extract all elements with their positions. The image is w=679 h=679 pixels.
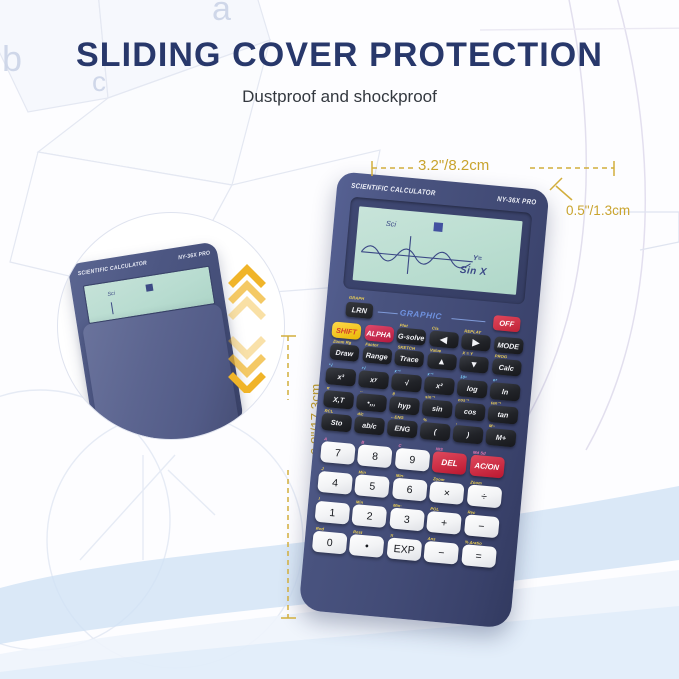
lcd-bezel: Sci Y= Sin X [343, 197, 533, 305]
calculator-body: SCIENTIFIC CALCULATOR NY-36X PRO Sci [298, 171, 549, 628]
brand-right: NY-36X PRO [497, 195, 537, 207]
lcd-indicator-icon [433, 222, 443, 232]
key-key[interactable]: − [463, 514, 499, 538]
lcd-y-label: Y= [473, 255, 482, 263]
key-sto[interactable]: Sto [321, 413, 352, 433]
brand-left: SCIENTIFIC CALCULATOR [351, 182, 436, 198]
key-sup-label: θ [392, 391, 395, 396]
key-key[interactable]: ▼ [459, 355, 489, 374]
key-x[interactable]: x³ [325, 367, 356, 387]
key-draw[interactable]: Draw [329, 343, 359, 362]
key-sup-label: Rec [467, 509, 475, 515]
key-key[interactable]: − [424, 541, 460, 565]
key-log[interactable]: log [457, 379, 488, 399]
row-zero: Rnd0Rest•πEXPAns−% Δratio= [312, 531, 497, 569]
key-sup-label: I [318, 495, 320, 500]
key-key[interactable]: ÷ [466, 484, 502, 508]
key-key[interactable]: • [349, 534, 385, 558]
key-3[interactable]: 3 [389, 507, 425, 531]
inset-lcd-cursor [111, 302, 114, 314]
key-sup-label: C [398, 442, 402, 447]
lrn-sup-label: GRAPH [349, 295, 365, 301]
infographic-canvas: a b c SLIDING COVER PROTECTION Dustproof… [0, 0, 679, 679]
key-key[interactable]: ◀ [428, 330, 458, 349]
key-key[interactable]: × [429, 481, 465, 505]
key-range[interactable]: Range [362, 346, 392, 365]
key-tan[interactable]: tan [487, 405, 518, 425]
key-1[interactable]: 1 [315, 501, 351, 525]
key-exp[interactable]: EXP [386, 537, 422, 561]
calculator-tilted: SCIENTIFIC CALCULATOR NY-36X PRO Sci [298, 171, 549, 628]
key-sup-label: , [456, 420, 458, 425]
key-sup-label: J [321, 465, 324, 470]
key-sup-label: π [390, 532, 393, 537]
key-9[interactable]: 9 [394, 448, 430, 472]
off-key[interactable]: OFF [493, 315, 521, 332]
key-sup-label: B [361, 439, 365, 444]
key-key[interactable]: •,,, [356, 393, 387, 413]
sliding-cover-closeup: SCIENTIFIC CALCULATOR NY-36X PRO Sci [57, 212, 285, 440]
key-shift[interactable]: SHIFT [331, 321, 361, 340]
key-7[interactable]: 7 [320, 441, 356, 465]
inset-calculator-body: SCIENTIFIC CALCULATOR NY-36X PRO Sci [67, 241, 244, 440]
key-alpha[interactable]: ALPHA [364, 324, 394, 343]
key-key[interactable]: ▲ [426, 352, 456, 371]
key-ac-on[interactable]: AC/ON [469, 454, 505, 478]
key-x-t[interactable]: X,T [323, 390, 354, 410]
key-key[interactable]: √ [391, 373, 422, 393]
key-mode[interactable]: MODE [493, 336, 523, 355]
lcd-function-label: Sin X [459, 265, 487, 278]
key-sup-label: % [423, 417, 427, 422]
lrn-key[interactable]: LRN [345, 302, 373, 319]
key-m[interactable]: M+ [485, 428, 516, 448]
graphic-band-label: GRAPHIC [399, 307, 442, 321]
inset-brand-right: NY-36X PRO [178, 250, 211, 262]
key-sup-label: ← [359, 388, 364, 393]
inset-brand-left: SCIENTIFIC CALCULATOR [77, 260, 147, 278]
key-ln[interactable]: ln [489, 382, 520, 402]
key-del[interactable]: DEL [432, 451, 468, 475]
key-eng[interactable]: ENG [387, 419, 418, 439]
page-title: SLIDING COVER PROTECTION [0, 0, 679, 74]
key-sin[interactable]: sin [422, 399, 453, 419]
key-x[interactable]: xʸ [358, 370, 389, 390]
key-sup-label: ³√ [329, 362, 333, 367]
key-key[interactable]: = [461, 544, 497, 568]
key-sup-label: ʸ√ [361, 365, 366, 370]
key-calc[interactable]: Calc [491, 358, 521, 377]
key-x[interactable]: x² [424, 376, 455, 396]
key-label: AC/ON [474, 462, 499, 471]
lcd-screen: Sci Y= Sin X [353, 206, 523, 295]
key-hyp[interactable]: hyp [389, 396, 420, 416]
key-sup-label: π [327, 385, 330, 390]
slide-direction-chevrons [226, 261, 270, 393]
key-key[interactable]: ) [452, 425, 483, 445]
page-subtitle: Dustproof and shockproof [0, 74, 679, 107]
inset-lcd-mode: Sci [107, 291, 115, 298]
key-sup-label: eˣ [493, 377, 498, 382]
inset-sliding-cover [82, 303, 240, 440]
header: SLIDING COVER PROTECTION Dustproof and s… [0, 0, 679, 107]
lcd-mode-label: Sci [385, 219, 396, 229]
key-4[interactable]: 4 [317, 471, 353, 495]
key-8[interactable]: 8 [357, 444, 393, 468]
key-sup-label: A [324, 436, 328, 441]
key-ab-c[interactable]: ab/c [354, 416, 385, 436]
inset-lcd-indicator-icon [145, 284, 153, 292]
key-5[interactable]: 5 [354, 474, 390, 498]
main-calculator: SCIENTIFIC CALCULATOR NY-36X PRO Sci [296, 172, 576, 642]
key-key[interactable]: ▶ [461, 333, 491, 352]
key-cos[interactable]: cos [454, 402, 485, 422]
key-key[interactable]: ( [419, 422, 450, 442]
key-6[interactable]: 6 [392, 478, 428, 502]
key-trace[interactable]: Trace [394, 349, 424, 368]
key-key[interactable]: + [426, 511, 462, 535]
key-g-solve[interactable]: G-solve [396, 327, 426, 346]
key-2[interactable]: 2 [352, 504, 388, 528]
key-sup-label: Cls [432, 325, 439, 331]
key-0[interactable]: 0 [312, 531, 348, 555]
